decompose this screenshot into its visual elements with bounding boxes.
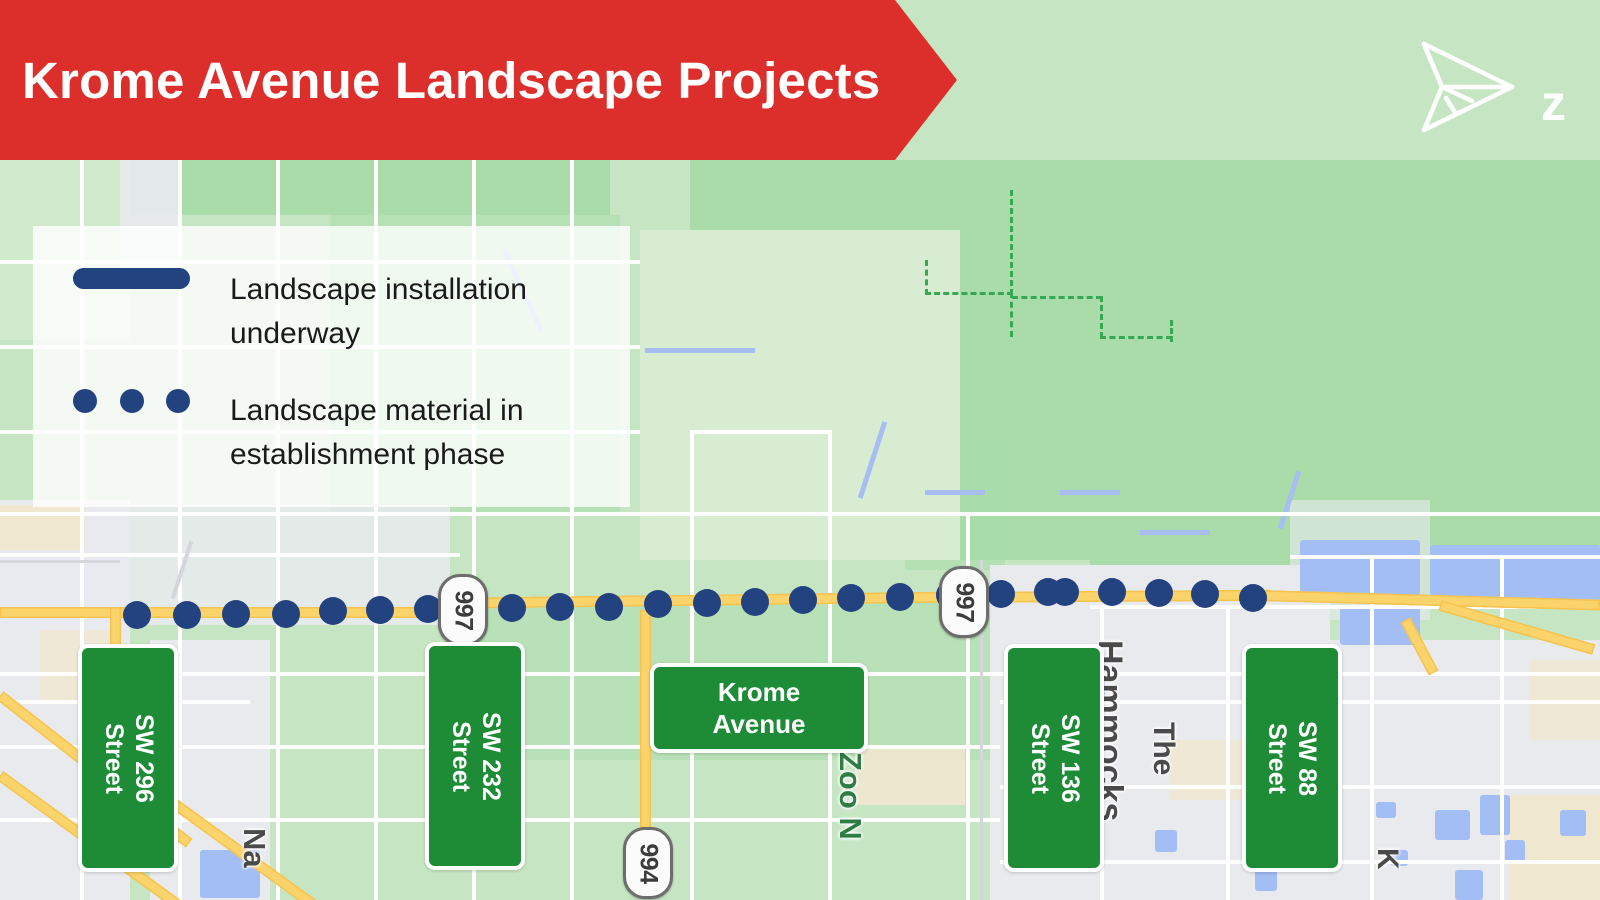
street-sign-label: SW 296Street — [99, 714, 158, 803]
title-banner: Krome Avenue Landscape Projects — [0, 0, 957, 160]
route-shield-label: 997 — [449, 590, 478, 630]
park-boundary-line — [1100, 336, 1172, 339]
route-dot — [319, 597, 347, 625]
legend-dot — [73, 389, 97, 413]
route-dot — [173, 601, 201, 629]
street-line — [1290, 555, 1600, 559]
street-line — [1226, 605, 1230, 900]
route-dot — [595, 593, 623, 621]
legend-dot — [166, 389, 190, 413]
secondary-road — [0, 560, 120, 563]
park-area — [130, 160, 610, 215]
water-body — [1300, 540, 1420, 595]
street-sign-label: SW 136Street — [1025, 714, 1084, 803]
street-sign-krome: KromeAvenue — [650, 663, 868, 753]
street-sign-sw-296: SW 296Street — [78, 644, 178, 872]
legend-dotted-line-swatch — [73, 389, 190, 413]
water-body — [1435, 810, 1470, 840]
legend-item-establishment: Landscape material in establishment phas… — [73, 389, 613, 476]
legend-solid-line-swatch — [73, 268, 190, 289]
park-boundary-line — [1010, 190, 1013, 295]
route-dot — [123, 601, 151, 629]
water-body — [1376, 802, 1396, 818]
map-screenshot: 997997994 TheHammocksZoo NNaIroK SW 296S… — [0, 0, 1600, 900]
waterway — [645, 348, 755, 353]
route-dot — [272, 600, 300, 628]
street-sign-label: KromeAvenue — [713, 676, 806, 741]
route-dot — [886, 583, 914, 611]
park-boundary-line — [1100, 296, 1103, 338]
park-boundary-line — [1012, 296, 1102, 299]
park-boundary-line — [1170, 320, 1173, 342]
water-body — [1480, 795, 1510, 835]
route-dot — [498, 594, 526, 622]
paper-plane-icon — [1410, 32, 1520, 142]
sandy-area — [855, 745, 965, 805]
park-boundary-line — [925, 260, 928, 295]
park-area — [700, 160, 890, 220]
place-label: The — [1146, 722, 1180, 775]
route-dot — [789, 586, 817, 614]
route-dot — [987, 580, 1015, 608]
route-dot — [546, 593, 574, 621]
route-shield-997: 997 — [438, 574, 488, 646]
route-shield-label: 994 — [634, 843, 663, 883]
waterway — [1140, 530, 1210, 535]
route-dot — [837, 584, 865, 612]
legend-dot — [120, 389, 144, 413]
route-shield-label: 997 — [950, 582, 979, 622]
park-area — [640, 230, 960, 560]
highway-branch — [110, 607, 121, 647]
legend-item-label: Landscape material in establishment phas… — [230, 389, 590, 476]
street-sign-sw-136: SW 136Street — [1004, 644, 1104, 872]
logo-letter: z — [1541, 78, 1566, 128]
page-title: Krome Avenue Landscape Projects — [22, 0, 880, 160]
water-body — [1505, 840, 1525, 862]
street-line — [690, 430, 830, 434]
route-dot — [222, 600, 250, 628]
route-dot — [1239, 584, 1267, 612]
route-shield-997: 997 — [939, 566, 989, 638]
brand-logo: z — [1410, 32, 1570, 142]
place-label: K — [1370, 848, 1404, 870]
route-dot — [1191, 580, 1219, 608]
street-sign-sw-88: SW 88Street — [1242, 644, 1342, 872]
route-dot — [693, 589, 721, 617]
waterway — [925, 490, 985, 495]
waterway — [1060, 490, 1120, 495]
route-dot — [1051, 578, 1079, 606]
route-dot — [1145, 579, 1173, 607]
water-body — [1455, 870, 1483, 900]
route-dot — [366, 596, 394, 624]
street-sign-label: SW 88Street — [1263, 720, 1322, 795]
legend-item-installation: Landscape installation underway — [73, 268, 613, 355]
route-dot — [644, 590, 672, 618]
place-label: Zoo N — [832, 752, 868, 840]
street-sign-label: SW 232Street — [446, 712, 505, 801]
legend-item-label: Landscape installation underway — [230, 268, 590, 355]
map-legend: Landscape installation underway Landscap… — [33, 226, 630, 507]
park-boundary-line — [925, 292, 1013, 295]
route-dot — [1098, 578, 1126, 606]
place-label: Na — [236, 828, 272, 868]
water-body — [1155, 830, 1177, 852]
route-dot — [741, 588, 769, 616]
water-body — [1560, 810, 1586, 836]
street-sign-sw-232: SW 232Street — [425, 642, 525, 870]
street-line — [0, 512, 1600, 516]
route-shield-994: 994 — [623, 827, 673, 899]
street-line — [0, 553, 460, 557]
